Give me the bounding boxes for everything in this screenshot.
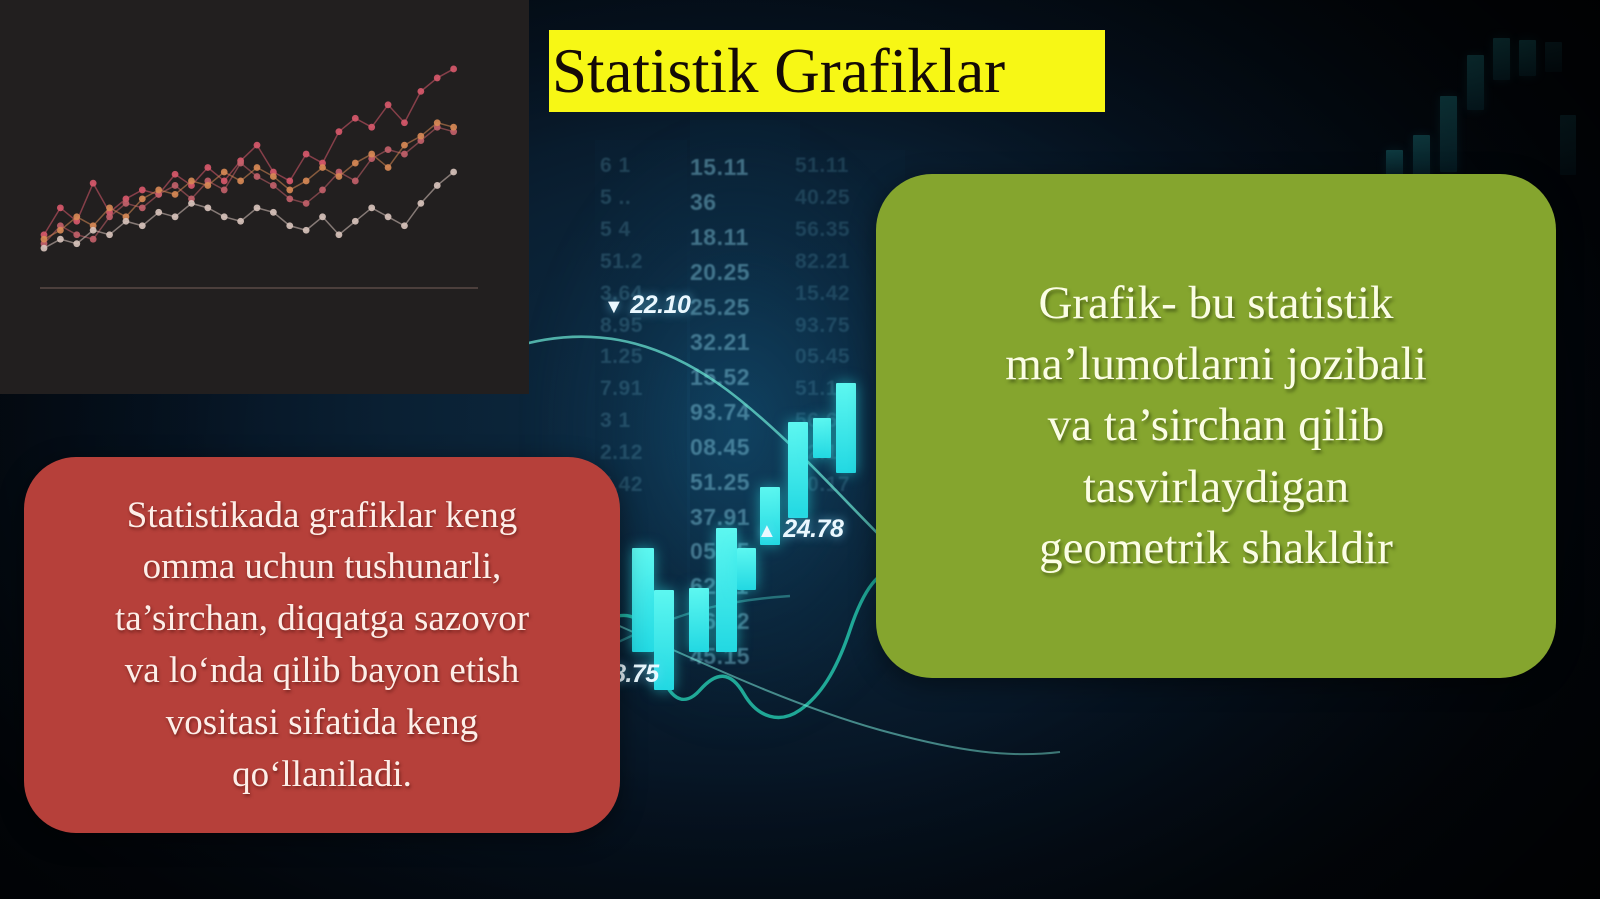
ticker-up: ▲24.78 xyxy=(757,515,843,544)
candle-bright-5 xyxy=(737,548,756,590)
ticker-up-value: 24.78 xyxy=(783,515,843,543)
candle-dim-5 xyxy=(1493,38,1510,80)
triangle-up-icon: ▲ xyxy=(757,520,776,543)
candle-bright-4 xyxy=(716,528,737,652)
candle-bright-8 xyxy=(813,418,831,458)
candle-bright-3 xyxy=(689,588,709,652)
slide-title-band: Statistik Grafiklar xyxy=(549,30,1105,112)
ticker-down: ▼22.10 xyxy=(604,291,690,320)
callout-definition[interactable]: Grafik- bu statistik ma’lumotlarni jozib… xyxy=(876,174,1556,678)
page-title: Statistik Grafiklar xyxy=(552,40,1005,103)
chart-series-group xyxy=(41,66,457,252)
candle-bright-7 xyxy=(788,422,808,518)
triangle-down-icon: ▼ xyxy=(604,296,623,319)
candle-dim-4 xyxy=(1467,55,1484,110)
callout-definition-text: Grafik- bu statistik ma’lumotlarni jozib… xyxy=(1005,273,1427,578)
candle-bright-1 xyxy=(632,548,654,652)
candle-dim-6 xyxy=(1519,40,1536,76)
candle-dim-7 xyxy=(1545,42,1562,72)
line-chart-panel xyxy=(0,0,529,394)
ticker-down-value: 22.10 xyxy=(630,291,690,319)
callout-usage-text: Statistikada grafiklar keng omma uchun t… xyxy=(115,490,529,801)
candle-dim-8 xyxy=(1560,115,1576,175)
line-chart-svg xyxy=(0,0,529,394)
candle-bright-9 xyxy=(836,383,856,473)
candle-dim-3 xyxy=(1440,96,1457,172)
callout-usage[interactable]: Statistikada grafiklar keng omma uchun t… xyxy=(24,457,620,833)
slide-canvas: 4 1 5 2 6 3 7 5 3 4 1 2 5 6 6 1 5 .. 5 4… xyxy=(0,0,1600,899)
